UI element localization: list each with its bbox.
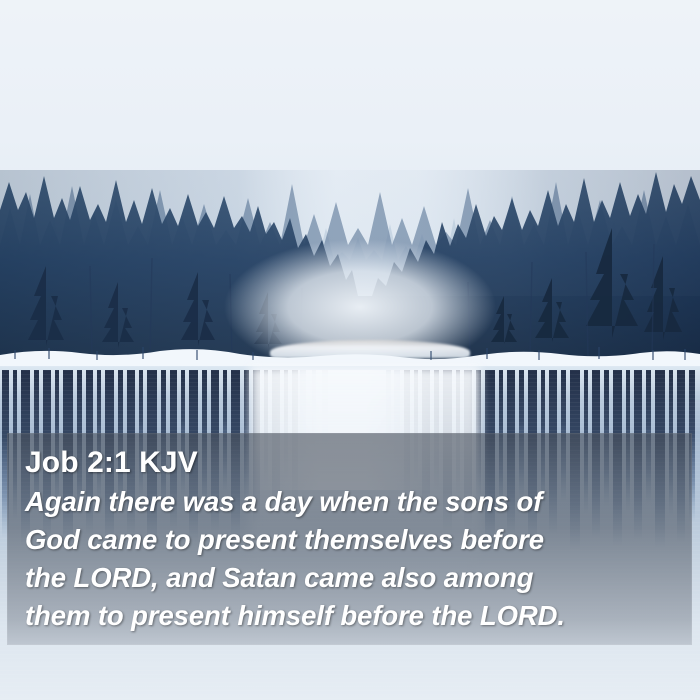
verse-reference: Job 2:1 KJV [25,445,670,481]
verse-text-line-4: them to present himself before the LORD. [25,597,670,635]
near-treeline [0,170,700,365]
verse-overlay-panel: Job 2:1 KJV Again there was a day when t… [7,433,692,645]
verse-image-card: Job 2:1 KJV Again there was a day when t… [0,0,700,700]
verse-text-line-3: the LORD, and Satan came also among [25,559,670,597]
verse-text-line-1: Again there was a day when the sons of [25,483,670,521]
snowy-shoreline [0,344,700,368]
verse-text: Again there was a day when the sons of G… [25,483,670,635]
verse-text-line-2: God came to present themselves before [25,521,670,559]
